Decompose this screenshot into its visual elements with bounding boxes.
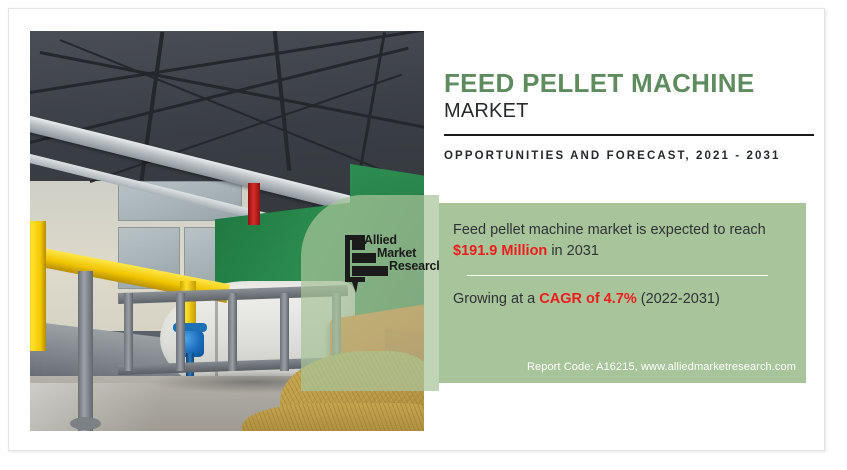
- report-card: Allied Market Research FEED PELLET MACHI…: [8, 8, 825, 451]
- photo-column-base: [70, 417, 101, 430]
- logo-line-3: Research: [389, 260, 444, 273]
- photo-red-pipe: [248, 183, 260, 225]
- market-value-statement: Feed pellet machine market is expected t…: [453, 220, 788, 261]
- photo-column: [78, 271, 93, 431]
- photo-steel-frame: [124, 293, 133, 371]
- market-value-suffix: in 2031: [547, 243, 599, 259]
- photo-floor-highlight: [30, 383, 210, 431]
- photo-steel-frame: [176, 293, 185, 371]
- cagr-statement: Growing at a CAGR of 4.7% (2022-2031): [453, 289, 788, 310]
- forecast-kicker: OPPORTUNITIES AND FORECAST, 2021 - 2031: [444, 148, 816, 166]
- market-value-highlight: $191.9 Million: [453, 243, 547, 259]
- report-header: FEED PELLET MACHINE MARKET OPPORTUNITIES…: [444, 69, 816, 166]
- highlights-panel: Feed pellet machine market is expected t…: [439, 203, 806, 383]
- cagr-highlight: CAGR of 4.7%: [539, 291, 637, 307]
- cagr-suffix: (2022-2031): [637, 291, 720, 307]
- allied-market-research-logo: Allied Market Research: [343, 233, 425, 295]
- page-title: FEED PELLET MACHINE: [444, 69, 816, 98]
- photo-steel-frame: [280, 293, 289, 371]
- panel-divider: [467, 275, 768, 276]
- title-divider: [444, 134, 814, 136]
- photo-steel-frame: [228, 293, 237, 371]
- page-subtitle: MARKET: [444, 100, 816, 123]
- market-value-prefix: Feed pellet machine market is expected t…: [453, 222, 766, 238]
- photo-gas-pipe: [30, 221, 46, 351]
- cagr-prefix: Growing at a: [453, 291, 539, 307]
- report-code-footer: Report Code: A16215, www.alliedmarketres…: [527, 361, 796, 373]
